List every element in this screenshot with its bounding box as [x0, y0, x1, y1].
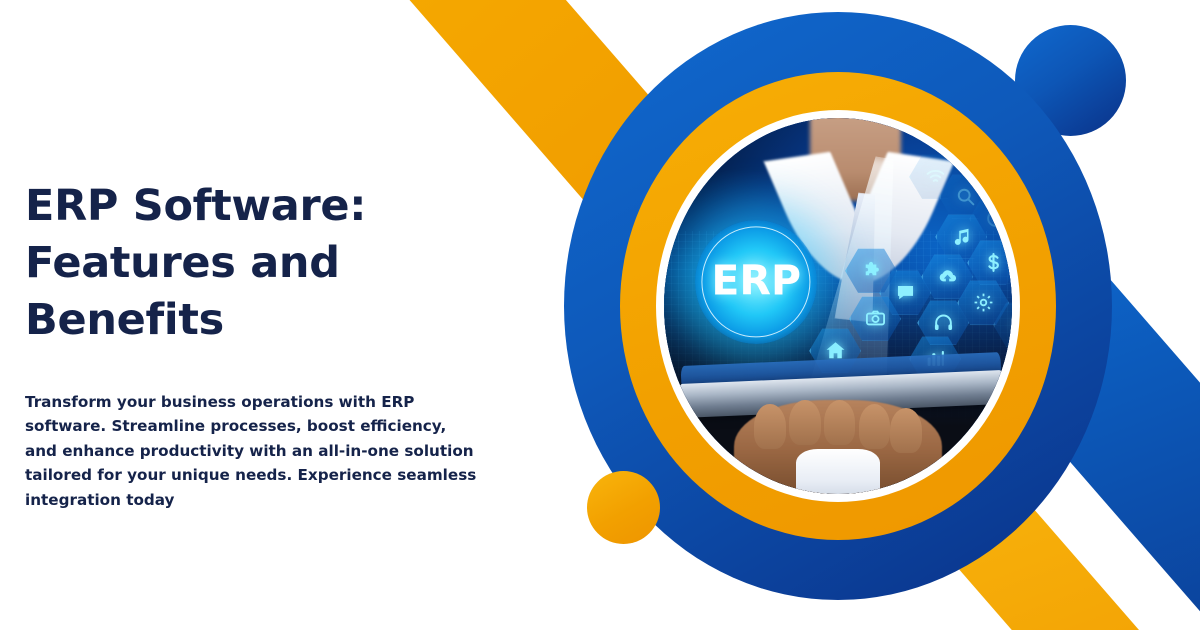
headline-line-2: Features and Benefits: [25, 235, 525, 349]
promo-banner: ERP ERP Software: Features and Benefits …: [0, 0, 1200, 630]
headline-line-1: ERP Software:: [25, 181, 366, 231]
copy-block: ERP Software: Features and Benefits Tran…: [25, 178, 525, 513]
finger: [789, 400, 820, 445]
finger: [754, 404, 785, 449]
finger: [890, 408, 921, 453]
erp-hero-photo: ERP: [664, 118, 1012, 494]
finger: [824, 400, 855, 445]
page-subtitle: Transform your business operations with …: [25, 350, 480, 513]
shirt-cuff: [796, 449, 880, 494]
erp-label: ERP: [711, 260, 801, 301]
orange-circle-decoration: [587, 471, 660, 544]
finger: [859, 404, 890, 449]
erp-hologram-badge: ERP: [695, 220, 817, 344]
page-title: ERP Software: Features and Benefits: [25, 178, 525, 350]
